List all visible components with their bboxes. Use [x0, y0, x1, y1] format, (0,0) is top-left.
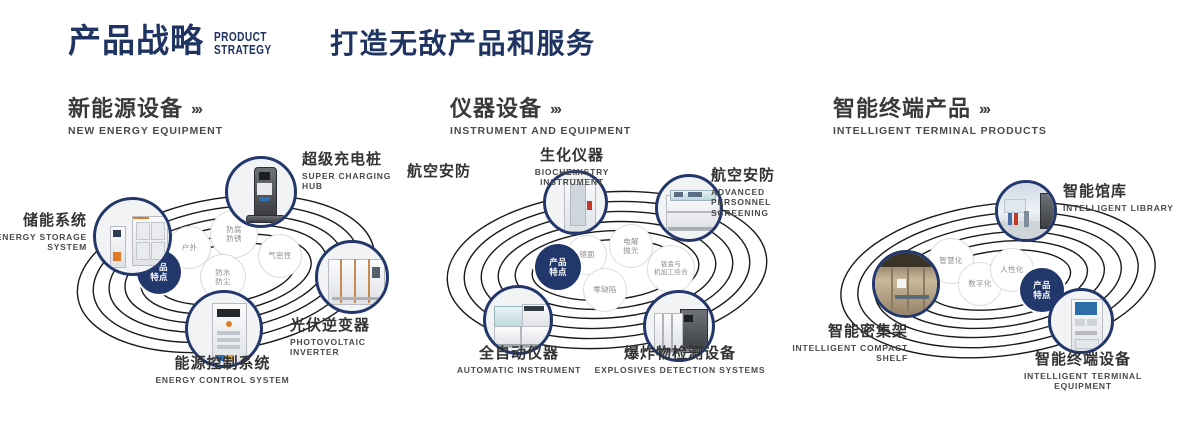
label-cn: 爆炸物检测设备: [593, 346, 767, 363]
label-en: ADVANCED PERSONNEL SCREENING: [711, 187, 805, 219]
chevron-right-icon: ›››: [550, 101, 560, 118]
label-biochemistry-instrument: 生化仪器 BIOCHEMISTRY INSTRUMENT: [507, 148, 637, 188]
label-en: AUTOMATIC INSTRUMENT: [433, 365, 605, 376]
node-charging-hub[interactable]: [225, 156, 297, 228]
label-cn: 储能系统: [0, 213, 87, 230]
feature-bubble: 电解 抛光: [609, 224, 653, 268]
library-room-icon: [998, 183, 1054, 239]
chevron-right-icon: ›››: [191, 101, 201, 118]
diagram-new-energy: 户外 防腐 防锈 气密性 防水 防尘 产品 特点 储能系统 ENERGY S: [40, 150, 410, 395]
label-intelligent-library: 智能馆库 INTELLIGENT LIBRARY: [1063, 184, 1174, 213]
section-title-cn: 智能终端产品›››: [833, 96, 1047, 121]
label-en: ENERGY STORAGE SYSTEM: [0, 232, 87, 253]
feature-bubble: 零缺陷: [583, 268, 627, 312]
node-photovoltaic-inverter[interactable]: [315, 240, 389, 314]
label-photovoltaic-inverter: 光伏逆变器 PHOTOVOLTAIC INVERTER: [290, 318, 410, 358]
section-title-cn: 仪器设备›››: [450, 96, 631, 121]
label-cn: 智能馆库: [1063, 184, 1174, 201]
page-header: 产品战略 PRODUCT STRATEGY: [68, 24, 288, 57]
label-cn: 航空安防: [711, 168, 805, 185]
label-charging-hub: 超级充电桩 SUPER CHARGING HUB: [302, 152, 410, 192]
label-en: SUPER CHARGING HUB: [302, 171, 410, 192]
label-energy-control: 能源控制系统 ENERGY CONTROL SYSTEM: [115, 356, 330, 385]
diagram-intelligent-terminal: 智慧化 数字化 人性化 产品 特点 智能馆库 INTELLIGENT LIBRA…: [810, 150, 1195, 395]
inverter-cabinet-icon: [318, 243, 386, 311]
label-compact-shelf: 智能密集架 INTELLIGENT COMPACT SHELF: [748, 324, 908, 364]
label-cn: 生化仪器: [507, 148, 637, 165]
label-en: EXPLOSIVES DETECTION SYSTEMS: [593, 365, 767, 376]
core-bubble-line2: 特点: [150, 272, 168, 282]
label-terminal-equipment: 智能终端设备 INTELLIGENT TERMINAL EQUIPMENT: [998, 352, 1168, 392]
diagram-instrument: 镜面 电解 抛光 钣金与 机加工结合 零缺陷 产品 特点 航空安防 生化仪器 B…: [415, 150, 805, 395]
poster-canvas: 产品战略 PRODUCT STRATEGY 打造无敌产品和服务 新能源设备›››…: [0, 0, 1200, 422]
label-energy-storage: 储能系统 ENERGY STORAGE SYSTEM: [0, 213, 87, 253]
feature-bubble: 钣金与 机加工结合: [647, 245, 695, 293]
label-cn: 航空安防: [407, 164, 471, 181]
core-bubble: 产品 特点: [535, 244, 581, 290]
self-service-kiosk-icon: [1051, 291, 1111, 351]
page-subtitle: 打造无敌产品和服务: [330, 30, 596, 58]
compact-shelf-icon: [875, 253, 937, 315]
page-title-en: PRODUCT STRATEGY: [214, 30, 272, 56]
auto-analyzer-icon: [486, 288, 550, 352]
section-title-text: 仪器设备: [450, 96, 542, 121]
label-en: BIOCHEMISTRY INSTRUMENT: [507, 167, 637, 188]
section-heading-new-energy: 新能源设备››› NEW ENERGY EQUIPMENT: [68, 96, 223, 137]
page-title: 产品战略: [68, 24, 204, 57]
label-automatic-instrument: 全自动仪器 AUTOMATIC INSTRUMENT: [433, 346, 605, 375]
label-advanced-personnel-screening: 航空安防 ADVANCED PERSONNEL SCREENING: [711, 168, 805, 218]
label-explosives-detection: 爆炸物检测设备 EXPLOSIVES DETECTION SYSTEMS: [593, 346, 767, 375]
node-energy-storage[interactable]: [93, 197, 172, 276]
label-en: INTELLIGENT LIBRARY: [1063, 203, 1174, 214]
section-title-en: INSTRUMENT AND EQUIPMENT: [450, 125, 631, 137]
charging-pile-icon: [228, 159, 294, 225]
core-bubble-line1: 产品: [549, 257, 567, 267]
label-cn: 能源控制系统: [115, 356, 330, 373]
chevron-right-icon: ›››: [979, 101, 989, 118]
label-en: ENERGY CONTROL SYSTEM: [115, 375, 330, 386]
label-cn: 智能密集架: [748, 324, 908, 341]
feature-bubble: 气密性: [258, 234, 302, 278]
label-aviation-security-aside: 航空安防: [407, 164, 471, 181]
node-intelligent-library[interactable]: [995, 180, 1057, 242]
label-cn: 全自动仪器: [433, 346, 605, 363]
label-cn: 超级充电桩: [302, 152, 410, 169]
section-title-text: 新能源设备: [68, 96, 183, 121]
label-cn: 光伏逆变器: [290, 318, 410, 335]
label-en: INTELLIGENT COMPACT SHELF: [748, 343, 908, 364]
core-bubble-line1: 产品: [1033, 280, 1051, 290]
section-title-text: 智能终端产品: [833, 96, 971, 121]
battery-cabinet-icon: [96, 200, 169, 273]
label-cn: 智能终端设备: [998, 352, 1168, 369]
section-heading-intelligent: 智能终端产品››› INTELLIGENT TERMINAL PRODUCTS: [833, 96, 1047, 137]
label-en: PHOTOVOLTAIC INVERTER: [290, 337, 410, 358]
section-title-cn: 新能源设备›››: [68, 96, 223, 121]
node-terminal-equipment[interactable]: [1048, 288, 1114, 354]
core-bubble-line2: 特点: [549, 267, 567, 277]
section-title-en: NEW ENERGY EQUIPMENT: [68, 125, 223, 137]
label-en: INTELLIGENT TERMINAL EQUIPMENT: [998, 371, 1168, 392]
section-title-en: INTELLIGENT TERMINAL PRODUCTS: [833, 125, 1047, 137]
node-compact-shelf[interactable]: [872, 250, 940, 318]
section-heading-instrument: 仪器设备››› INSTRUMENT AND EQUIPMENT: [450, 96, 631, 137]
core-bubble-line2: 特点: [1033, 290, 1051, 300]
